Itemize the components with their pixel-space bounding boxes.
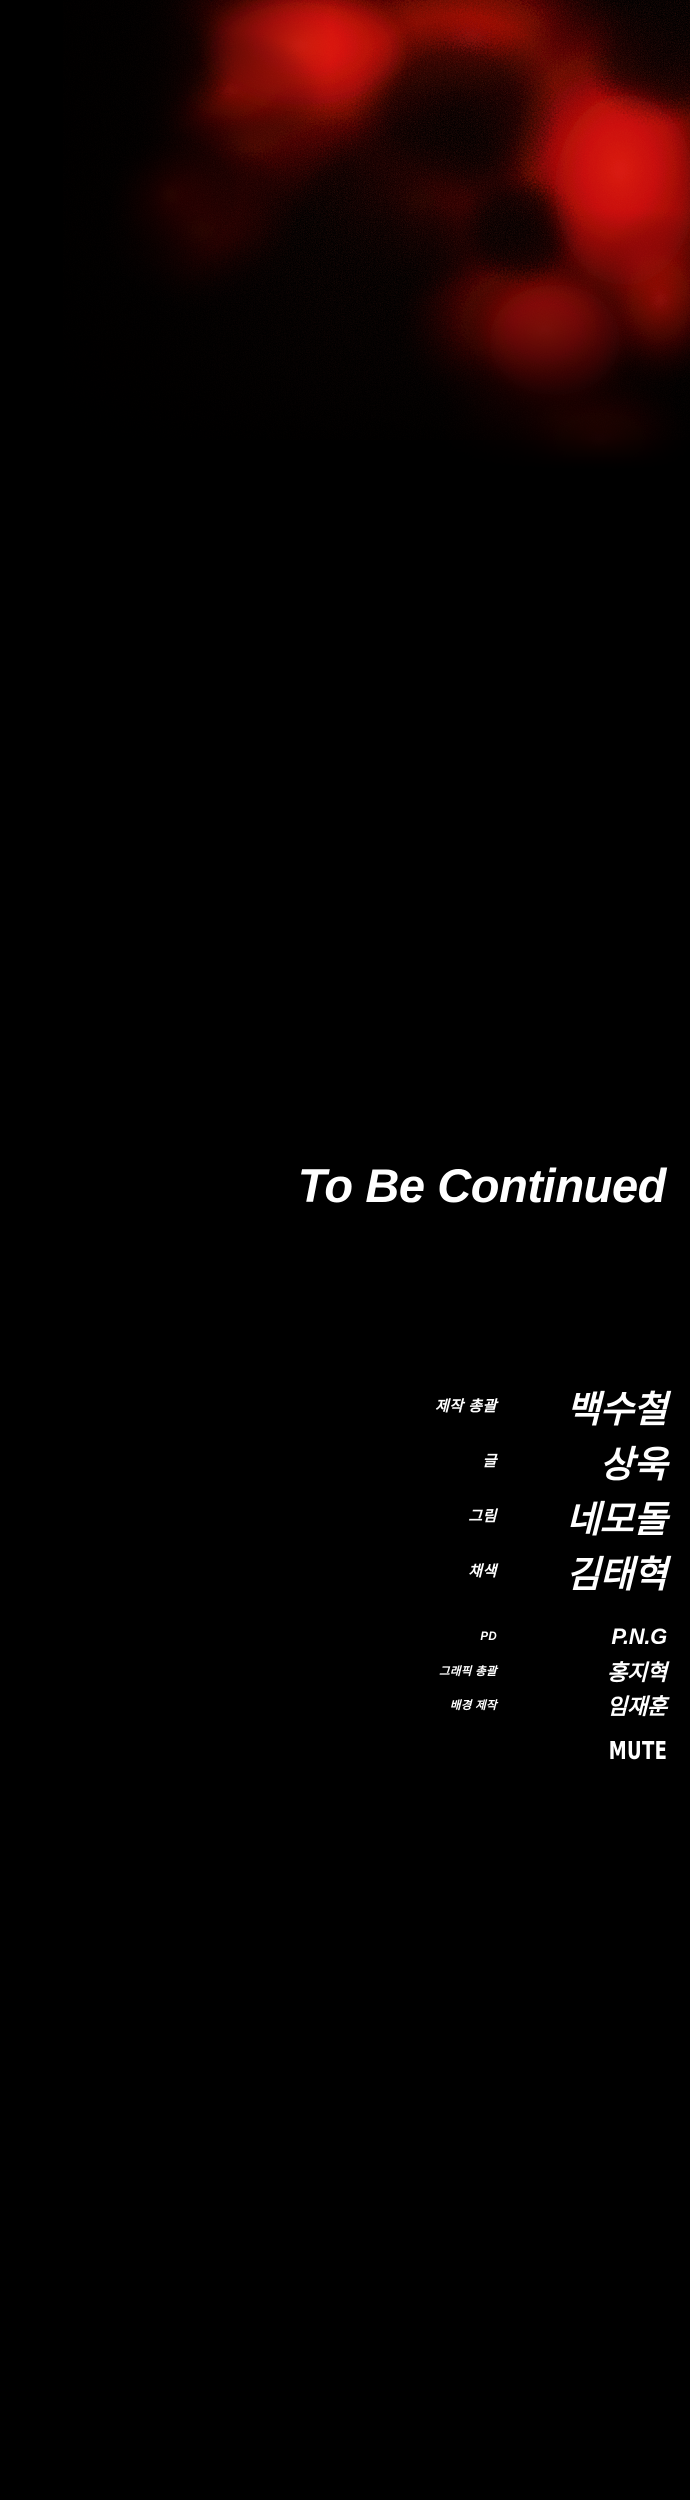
credit-name-value: 네모돌 [523,1489,667,1543]
credit-role-label: 그림 [373,1505,523,1526]
credit-role-label: PD [373,1631,523,1643]
to-be-continued-text: To Be Continued [298,1160,666,1212]
credit-name-value: 홍지혁 [523,1655,667,1687]
credit-row: 제작 총괄 백수철 [0,1378,667,1433]
credit-role-label: 제작 총괄 [373,1395,523,1416]
red-smoke-svg [0,0,690,470]
credit-name-value: 백수철 [523,1379,667,1433]
credit-role-label: 그래픽 총괄 [373,1663,523,1679]
credit-row: 그림 네모돌 [0,1488,667,1543]
credit-name-value: 김태혁 [523,1544,667,1598]
mute-studio-logo: MUTE [608,1738,667,1763]
credit-name-value: P.N.G [523,1624,667,1650]
studio-logo-row: MUTE [0,1738,667,1763]
credit-row: 배경 제작 임재훈 [0,1688,667,1722]
credit-name-value: 임재훈 [523,1689,667,1721]
credit-role-label: 배경 제작 [373,1697,523,1713]
credit-role-label: 채색 [373,1560,523,1581]
to-be-continued-container: To Be Continued [0,1160,690,1212]
credit-row: PD P.N.G [0,1620,667,1654]
credit-role-label: 글 [373,1450,523,1471]
credit-row: 글 상욱 [0,1433,667,1488]
credit-row: 채색 김태혁 [0,1543,667,1598]
credit-name-value: 상욱 [523,1434,667,1488]
red-powder-burst-artwork [0,0,690,470]
webtoon-episode-end-page: To Be Continued 제작 총괄 백수철 글 상욱 그림 네모돌 채색… [0,0,690,2500]
credits-block: 제작 총괄 백수철 글 상욱 그림 네모돌 채색 김태혁 PD P.N.G 그래… [0,1378,690,1763]
credits-divider-gap [0,1598,667,1620]
credit-row: 그래픽 총괄 홍지혁 [0,1654,667,1688]
